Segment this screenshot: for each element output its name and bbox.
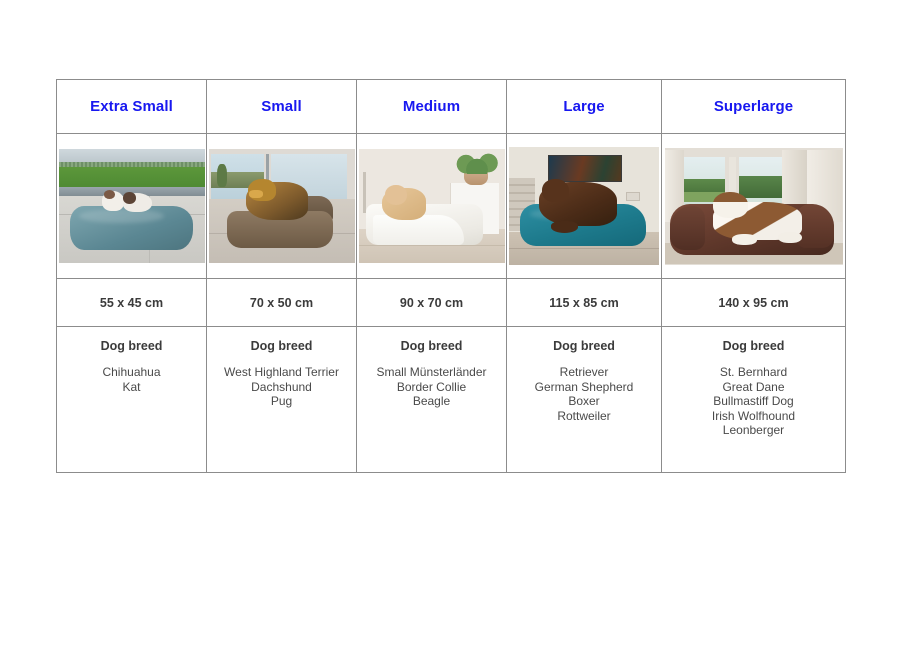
list-item: Bullmastiff Dog [662, 394, 845, 409]
breed-list-small: West Highland Terrier Dachshund Pug [207, 365, 356, 409]
breed-list-superlarge: St. Bernhard Great Dane Bullmastiff Dog … [662, 365, 845, 438]
breed-cell-large: Dog breed Retriever German Shepherd Boxe… [507, 327, 662, 473]
dimensions-cell-large: 115 x 85 cm [507, 279, 662, 327]
header-cell-large: Large [507, 80, 662, 134]
list-item: West Highland Terrier [207, 365, 356, 380]
breed-cell-medium: Dog breed Small Münsterländer Border Col… [357, 327, 507, 473]
dog-bed-size-table: Extra Small Small Medium Large Superlarg… [56, 79, 846, 473]
photo-cell-superlarge [662, 134, 846, 279]
table-dimensions-row: 55 x 45 cm 70 x 50 cm 90 x 70 cm 115 x 8… [57, 279, 846, 327]
dimensions-medium: 90 x 70 cm [357, 296, 506, 310]
list-item: Rottweiler [507, 409, 661, 424]
breed-title-extra-small: Dog breed [57, 339, 206, 353]
header-cell-superlarge: Superlarge [662, 80, 846, 134]
list-item: Boxer [507, 394, 661, 409]
photo-cell-medium [357, 134, 507, 279]
dimensions-cell-superlarge: 140 x 95 cm [662, 279, 846, 327]
list-item: Border Collie [357, 380, 506, 395]
list-item: St. Bernhard [662, 365, 845, 380]
breed-cell-extra-small: Dog breed Chihuahua Kat [57, 327, 207, 473]
product-photo-small [209, 149, 355, 263]
table-breed-row: Dog breed Chihuahua Kat Dog breed West H… [57, 327, 846, 473]
dimensions-extra-small: 55 x 45 cm [57, 296, 206, 310]
breed-list-medium: Small Münsterländer Border Collie Beagle [357, 365, 506, 409]
list-item: German Shepherd [507, 380, 661, 395]
list-item: Pug [207, 394, 356, 409]
breed-cell-small: Dog breed West Highland Terrier Dachshun… [207, 327, 357, 473]
size-name-medium: Medium [357, 98, 506, 115]
breed-title-medium: Dog breed [357, 339, 506, 353]
list-item: Kat [57, 380, 206, 395]
table-header-row: Extra Small Small Medium Large Superlarg… [57, 80, 846, 134]
dimensions-large: 115 x 85 cm [507, 296, 661, 310]
header-cell-medium: Medium [357, 80, 507, 134]
breed-cell-superlarge: Dog breed St. Bernhard Great Dane Bullma… [662, 327, 846, 473]
list-item: Irish Wolfhound [662, 409, 845, 424]
photo-cell-extra-small [57, 134, 207, 279]
product-photo-extra-small [59, 149, 205, 263]
breed-title-small: Dog breed [207, 339, 356, 353]
list-item: Chihuahua [57, 365, 206, 380]
product-photo-large [509, 147, 659, 265]
list-item: Small Münsterländer [357, 365, 506, 380]
breed-list-extra-small: Chihuahua Kat [57, 365, 206, 394]
table-photo-row [57, 134, 846, 279]
dimensions-cell-extra-small: 55 x 45 cm [57, 279, 207, 327]
breed-title-superlarge: Dog breed [662, 339, 845, 353]
list-item: Leonberger [662, 423, 845, 438]
list-item: Great Dane [662, 380, 845, 395]
size-name-extra-small: Extra Small [57, 98, 206, 115]
photo-cell-small [207, 134, 357, 279]
list-item: Retriever [507, 365, 661, 380]
dimensions-cell-small: 70 x 50 cm [207, 279, 357, 327]
product-photo-superlarge [665, 148, 843, 265]
dimensions-small: 70 x 50 cm [207, 296, 356, 310]
breed-list-large: Retriever German Shepherd Boxer Rottweil… [507, 365, 661, 423]
size-name-superlarge: Superlarge [662, 98, 845, 115]
dimensions-superlarge: 140 x 95 cm [662, 296, 845, 310]
list-item: Beagle [357, 394, 506, 409]
header-cell-small: Small [207, 80, 357, 134]
photo-cell-large [507, 134, 662, 279]
size-name-small: Small [207, 98, 356, 115]
size-name-large: Large [507, 98, 661, 115]
dimensions-cell-medium: 90 x 70 cm [357, 279, 507, 327]
product-photo-medium [359, 149, 505, 263]
breed-title-large: Dog breed [507, 339, 661, 353]
header-cell-extra-small: Extra Small [57, 80, 207, 134]
list-item: Dachshund [207, 380, 356, 395]
